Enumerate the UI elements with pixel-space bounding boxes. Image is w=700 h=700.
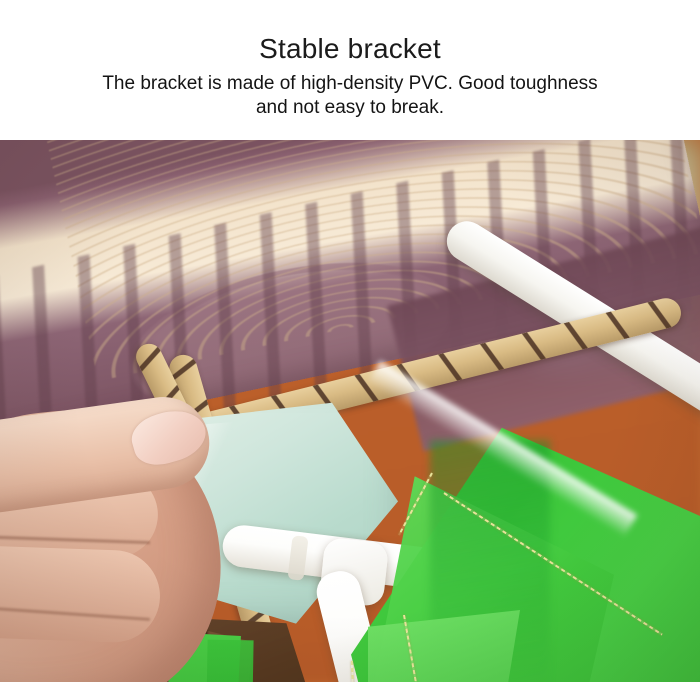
subtitle-line-1: The bracket is made of high-density PVC.… (102, 73, 597, 94)
page-title: Stable bracket (259, 32, 441, 66)
product-detail-page: Stable bracket The bracket is made of hi… (0, 0, 700, 700)
product-photo (0, 140, 700, 682)
subtitle-line-2: and not easy to break. (102, 96, 597, 120)
page-subtitle: The bracket is made of high-density PVC.… (102, 72, 597, 120)
bottom-white-band (0, 682, 700, 700)
green-fabric-strip-left-2 (204, 640, 253, 682)
left-hand-finger-lower (0, 544, 162, 644)
header-text-band: Stable bracket The bracket is made of hi… (0, 0, 700, 140)
